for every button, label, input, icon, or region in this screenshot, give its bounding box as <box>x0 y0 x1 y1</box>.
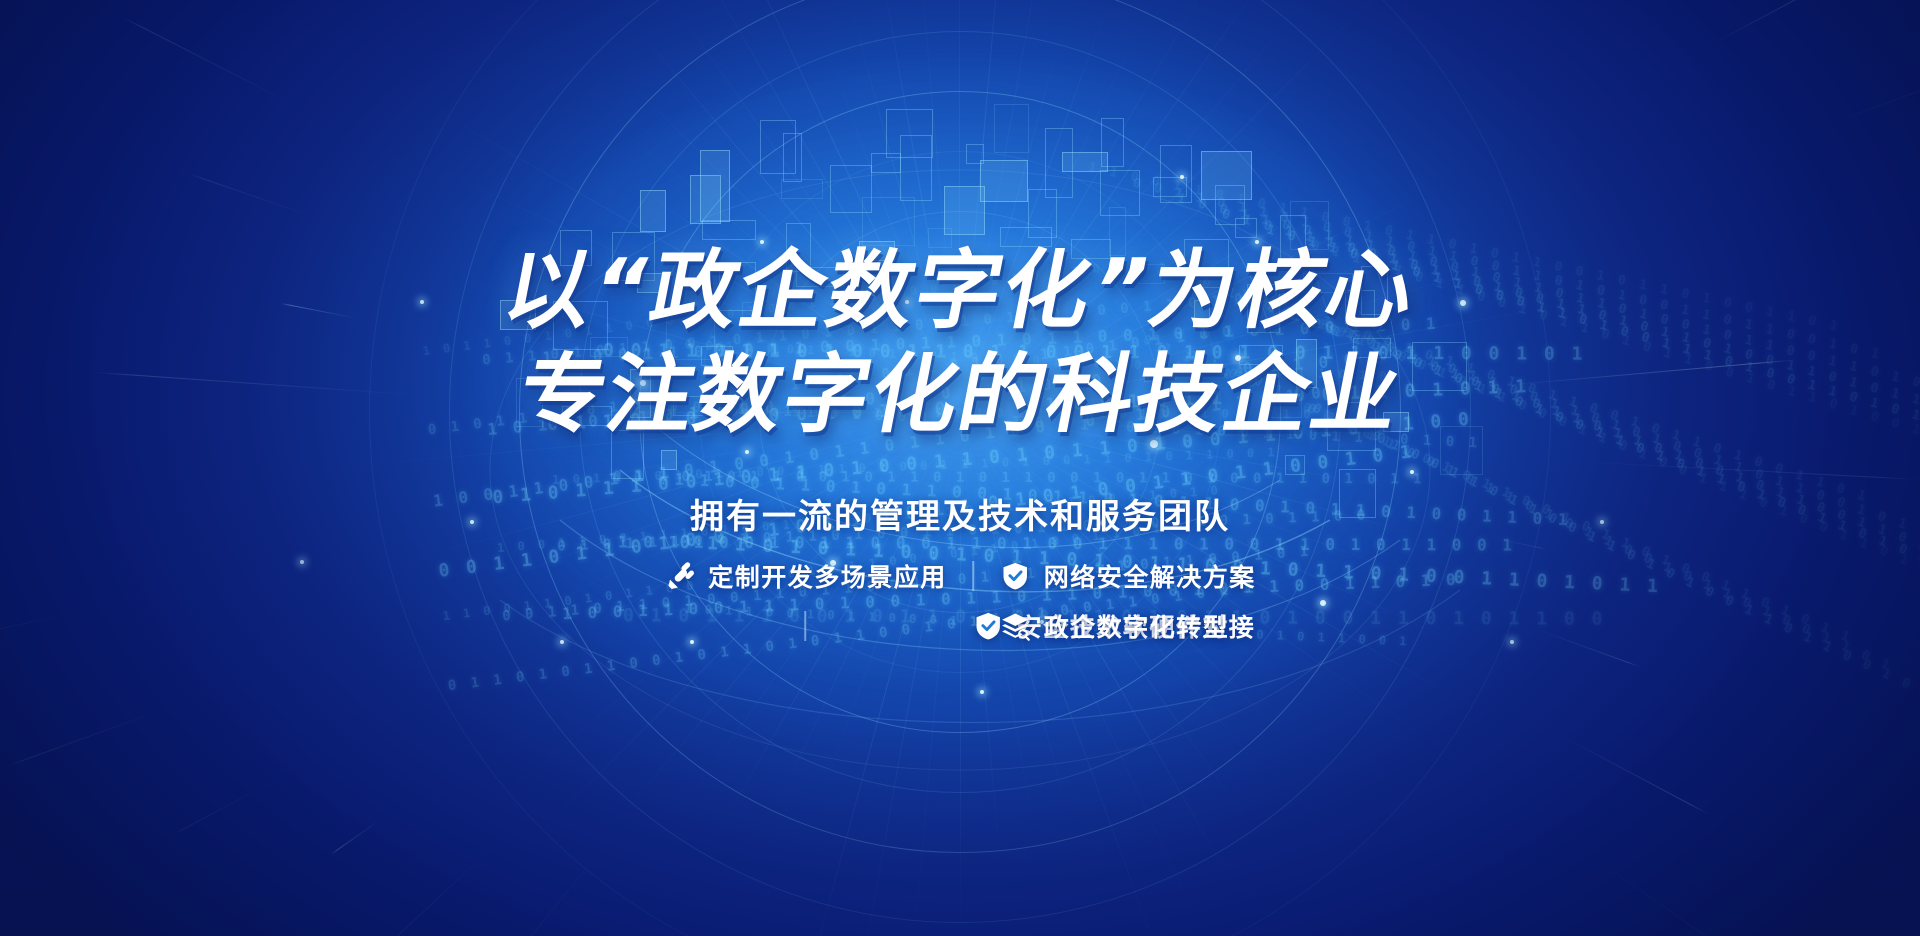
pencil-edit-icon <box>664 561 694 591</box>
feature-label: 定制开发多场景应用 <box>708 558 947 594</box>
headline-line-1: 以“政企数字化”为核心 <box>0 248 1920 334</box>
feature-label: 政企数字化转型 <box>1044 608 1230 644</box>
shield-check-icon <box>973 611 1003 641</box>
feature-item-network-security[interactable]: 网络安全解决方案 <box>1000 558 1256 594</box>
banner-subtitle: 拥有一流的管理及技术和服务团队 <box>0 489 1920 538</box>
feature-item-security-integration[interactable]: 安全技术软硬件对接 <box>973 608 974 644</box>
feature-item-custom-development[interactable]: 定制开发多场景应用 <box>664 558 947 594</box>
feature-separator-row2 <box>804 611 806 641</box>
headline-line-2: 专注数字化的科技企业 <box>0 352 1920 438</box>
feature-list: 定制开发多场景应用 网络安全解决方案 安全技术软硬件对接 <box>664 558 1256 644</box>
hero-banner: 1 0 1 1 0 0 1 0 1 1 0 0 0 1 1 0 1 0 0 1 … <box>0 0 1920 936</box>
layers-search-icon <box>1000 611 1030 641</box>
feature-separator-row1 <box>972 561 974 591</box>
feature-item-digital-transformation[interactable]: 政企数字化转型 <box>1000 608 1256 644</box>
shield-check-icon <box>1000 561 1030 591</box>
banner-content: 以“政企数字化”为核心 专注数字化的科技企业 拥有一流的管理及技术和服务团队 定… <box>0 0 1920 936</box>
feature-label: 网络安全解决方案 <box>1044 558 1256 594</box>
